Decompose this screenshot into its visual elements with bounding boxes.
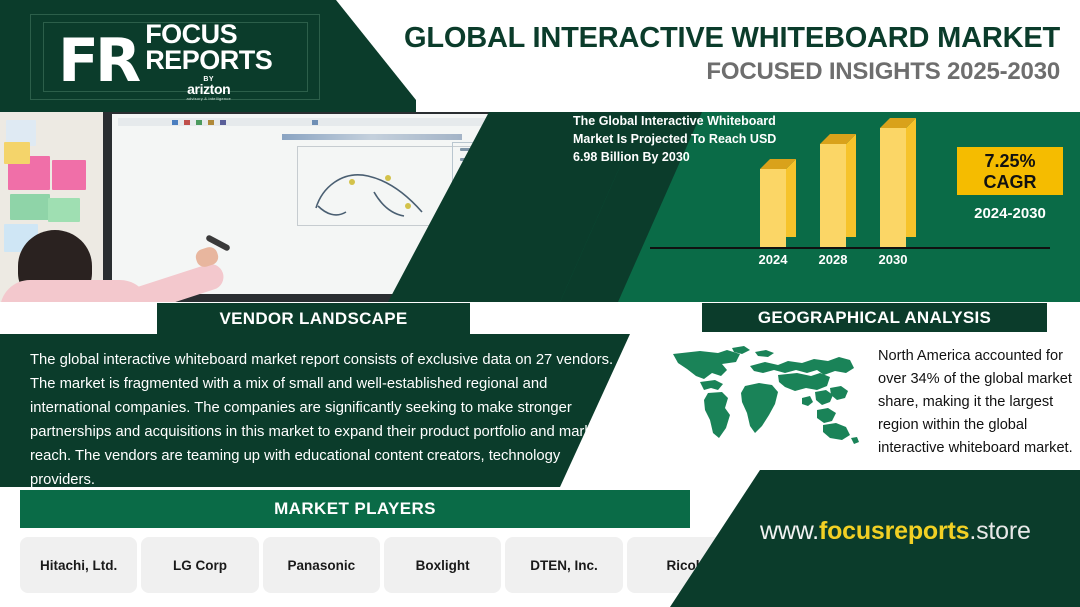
market-players-heading-label: MARKET PLAYERS xyxy=(274,499,436,519)
url-prefix: www. xyxy=(760,517,819,545)
cagr-period: 2024-2030 xyxy=(957,205,1063,222)
market-players-heading: MARKET PLAYERS xyxy=(20,490,690,528)
geographical-analysis-body: North America accounted for over 34% of … xyxy=(878,345,1074,460)
website-url[interactable]: www.focusreports.store xyxy=(760,517,1070,546)
url-suffix: .store xyxy=(969,517,1030,545)
bar-label-2028: 2028 xyxy=(803,252,863,267)
vendor-landscape-heading: VENDOR LANDSCAPE xyxy=(157,303,470,334)
world-map-icon xyxy=(652,340,862,448)
bar-side-body-2028 xyxy=(846,134,856,237)
market-player-chip[interactable]: Boxlight xyxy=(384,537,501,593)
bar-front-2030 xyxy=(880,128,906,247)
market-player-chip[interactable]: LG Corp xyxy=(141,537,258,593)
sticky-note xyxy=(10,194,50,220)
bar-side-body-2024 xyxy=(786,159,796,237)
page-title: GLOBAL INTERACTIVE WHITEBOARD MARKET xyxy=(404,22,1060,55)
sticky-note xyxy=(48,198,80,222)
bar-front-2024 xyxy=(760,169,786,247)
bar-side-body-2030 xyxy=(906,118,916,237)
infographic-page: FR FOCUS REPORTS BY arizton advisory & i… xyxy=(0,0,1080,607)
market-player-chip[interactable]: Panasonic xyxy=(263,537,380,593)
cagr-badge: 7.25% CAGR xyxy=(957,147,1063,195)
logo-mark: FR xyxy=(58,32,137,90)
logo-wordmark: FOCUS REPORTS BY arizton advisory & inte… xyxy=(145,21,272,101)
cagr-value: 7.25% xyxy=(984,151,1035,172)
cagr-label: CAGR xyxy=(984,172,1037,192)
logo-line-reports: REPORTS xyxy=(145,47,272,73)
bar-label-2024: 2024 xyxy=(743,252,803,267)
market-player-chip[interactable]: Hitachi, Ltd. xyxy=(20,537,137,593)
vendor-landscape-heading-label: VENDOR LANDSCAPE xyxy=(219,309,407,329)
page-subtitle: FOCUSED INSIGHTS 2025-2030 xyxy=(706,58,1060,86)
market-player-chip[interactable]: DTEN, Inc. xyxy=(505,537,622,593)
sticky-note xyxy=(4,142,30,164)
logo-parent-brand: arizton xyxy=(145,83,272,96)
brand-logo[interactable]: FR FOCUS REPORTS BY arizton advisory & i… xyxy=(58,22,298,100)
geographical-analysis-heading-label: GEOGRAPHICAL ANALYSIS xyxy=(758,308,991,328)
bar-front-2028 xyxy=(820,144,846,247)
vendor-landscape-body: The global interactive whiteboard market… xyxy=(30,348,625,492)
logo-tagline: advisory & intelligence xyxy=(145,96,272,101)
bar-label-2030: 2030 xyxy=(863,252,923,267)
chart-baseline xyxy=(650,247,1050,249)
market-players-list: Hitachi, Ltd.LG CorpPanasonicBoxlightDTE… xyxy=(20,537,744,597)
market-size-statement: The Global Interactive Whiteboard Market… xyxy=(573,112,788,166)
sticky-note xyxy=(52,160,86,190)
url-brand: focusreports xyxy=(819,517,969,545)
geographical-analysis-heading: GEOGRAPHICAL ANALYSIS xyxy=(702,303,1047,332)
logo-line-focus: FOCUS xyxy=(145,21,272,47)
